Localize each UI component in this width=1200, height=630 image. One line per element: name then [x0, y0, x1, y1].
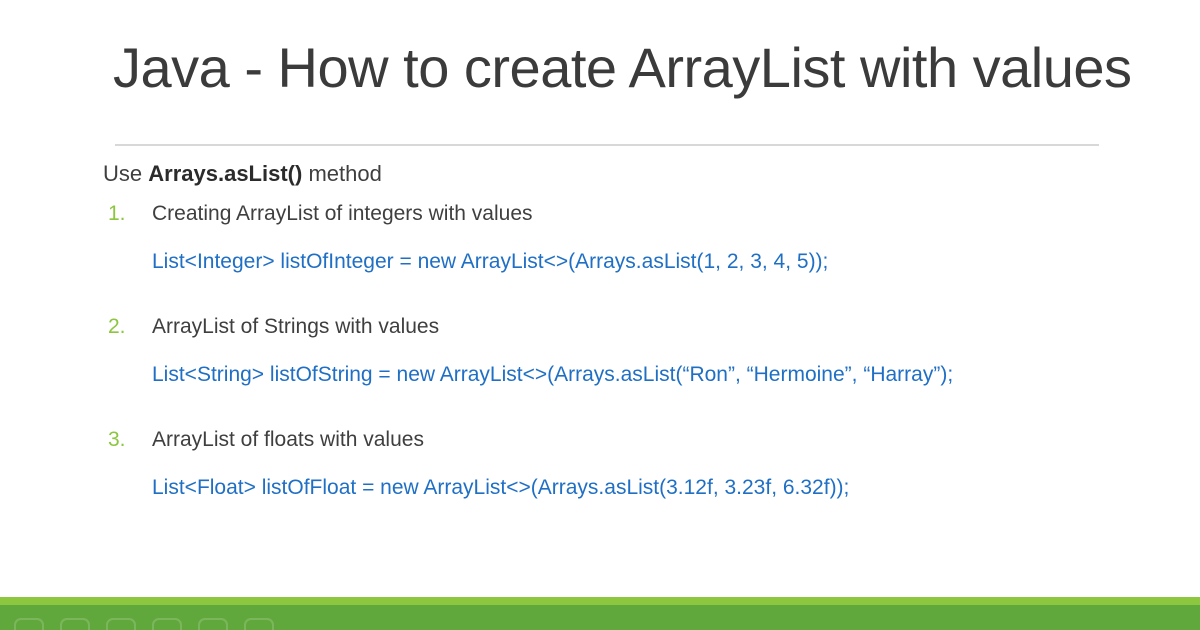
code-line: List<Integer> listOfInteger = new ArrayL…: [152, 248, 828, 276]
footer-shape: [152, 618, 182, 630]
numbered-list: 1. Creating ArrayList of integers with v…: [0, 200, 1200, 539]
list-item-heading-row: 3. ArrayList of floats with values: [0, 426, 1200, 460]
list-item-number: 1.: [108, 200, 126, 228]
title-divider: [115, 144, 1099, 146]
code-line: List<Float> listOfFloat = new ArrayList<…: [152, 474, 849, 502]
lead-prefix: Use: [103, 161, 148, 186]
list-item-heading-row: 1. Creating ArrayList of integers with v…: [0, 200, 1200, 234]
list-item: 1. Creating ArrayList of integers with v…: [0, 200, 1200, 313]
lead-bold-method: Arrays.asList(): [148, 161, 302, 186]
title-area: Java - How to create ArrayList with valu…: [113, 36, 1113, 100]
list-item-label: ArrayList of Strings with values: [152, 313, 439, 341]
list-item: 3. ArrayList of floats with values List<…: [0, 426, 1200, 539]
list-item-heading-row: 2. ArrayList of Strings with values: [0, 313, 1200, 347]
list-item-label: ArrayList of floats with values: [152, 426, 424, 454]
footer-shape: [106, 618, 136, 630]
footer-decoration-shapes: [14, 618, 274, 630]
page-title: Java - How to create ArrayList with valu…: [113, 36, 1113, 100]
list-item: 2. ArrayList of Strings with values List…: [0, 313, 1200, 426]
footer-shape: [60, 618, 90, 630]
footer-accent-stripe: [0, 597, 1200, 605]
footer-shape: [14, 618, 44, 630]
code-line: List<String> listOfString = new ArrayLis…: [152, 361, 953, 389]
list-item-number: 2.: [108, 313, 126, 341]
footer-shape: [198, 618, 228, 630]
lead-line: Use Arrays.asList() method: [103, 160, 382, 189]
list-item-number: 3.: [108, 426, 126, 454]
list-item-label: Creating ArrayList of integers with valu…: [152, 200, 533, 228]
footer-band: [0, 605, 1200, 630]
slide: Java - How to create ArrayList with valu…: [0, 0, 1200, 630]
lead-suffix: method: [302, 161, 382, 186]
footer-shape: [244, 618, 274, 630]
